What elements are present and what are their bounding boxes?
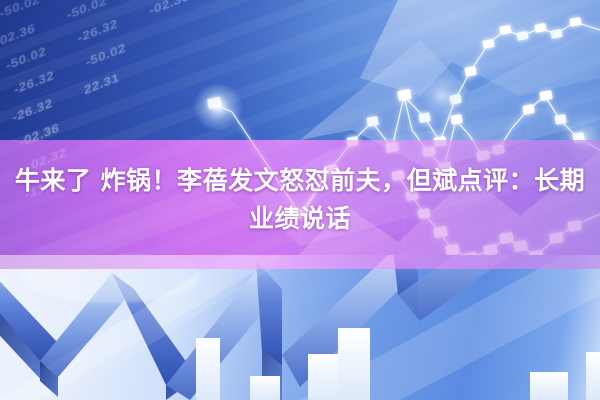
bar [338,328,370,400]
bar [308,354,338,400]
zigzag-ribbon-and-bars [0,255,600,400]
bar [530,372,568,400]
bottom-graphic-panel [0,255,600,400]
bar [586,352,600,400]
bar [250,376,280,400]
headline-text: 牛来了 炸锅！李蓓发文怒怼前夫，但斌点评：长期业绩说话 [0,162,600,238]
thumbnail-image: -45.02 -11.26 -02.36 21. -02.36 -11.26 4… [0,0,600,400]
bar [196,338,220,400]
